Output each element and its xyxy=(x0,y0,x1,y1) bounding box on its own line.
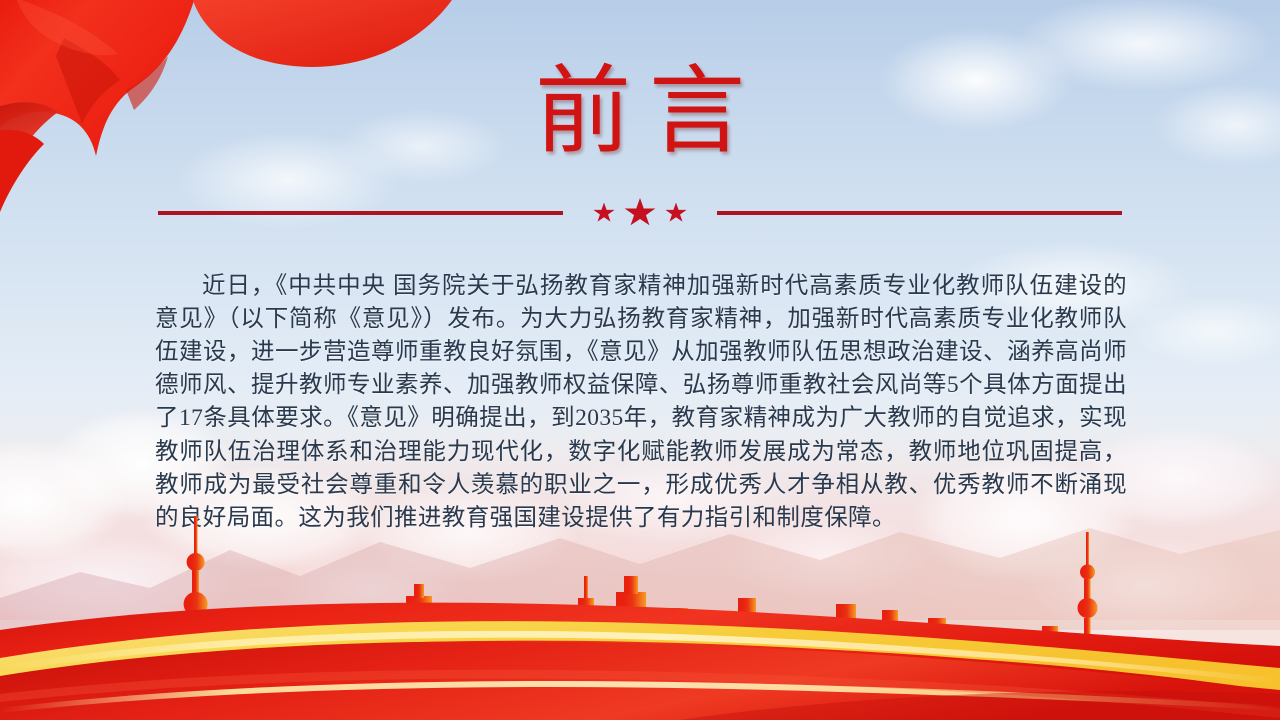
page-title: 前言 xyxy=(517,58,763,166)
body-paragraph: 近日，《中共中央 国务院关于弘扬教育家精神加强新时代高素质专业化教师队伍建设的意… xyxy=(155,270,1127,536)
title-container: 前言 xyxy=(0,58,1280,166)
divider-stars xyxy=(563,198,717,228)
divider-rule-left xyxy=(158,211,563,215)
divider xyxy=(158,203,1122,223)
star-small-left-icon xyxy=(593,203,615,224)
presentation-slide: 前言 近日，《中共中央 国务院关于弘扬教育家精神加强新时代高素质专业化教师队伍建… xyxy=(0,0,1280,720)
star-large-center-icon xyxy=(624,198,656,228)
divider-rule-right xyxy=(717,211,1122,215)
city-skyline-icon xyxy=(120,516,1280,680)
star-small-right-icon xyxy=(665,203,687,224)
